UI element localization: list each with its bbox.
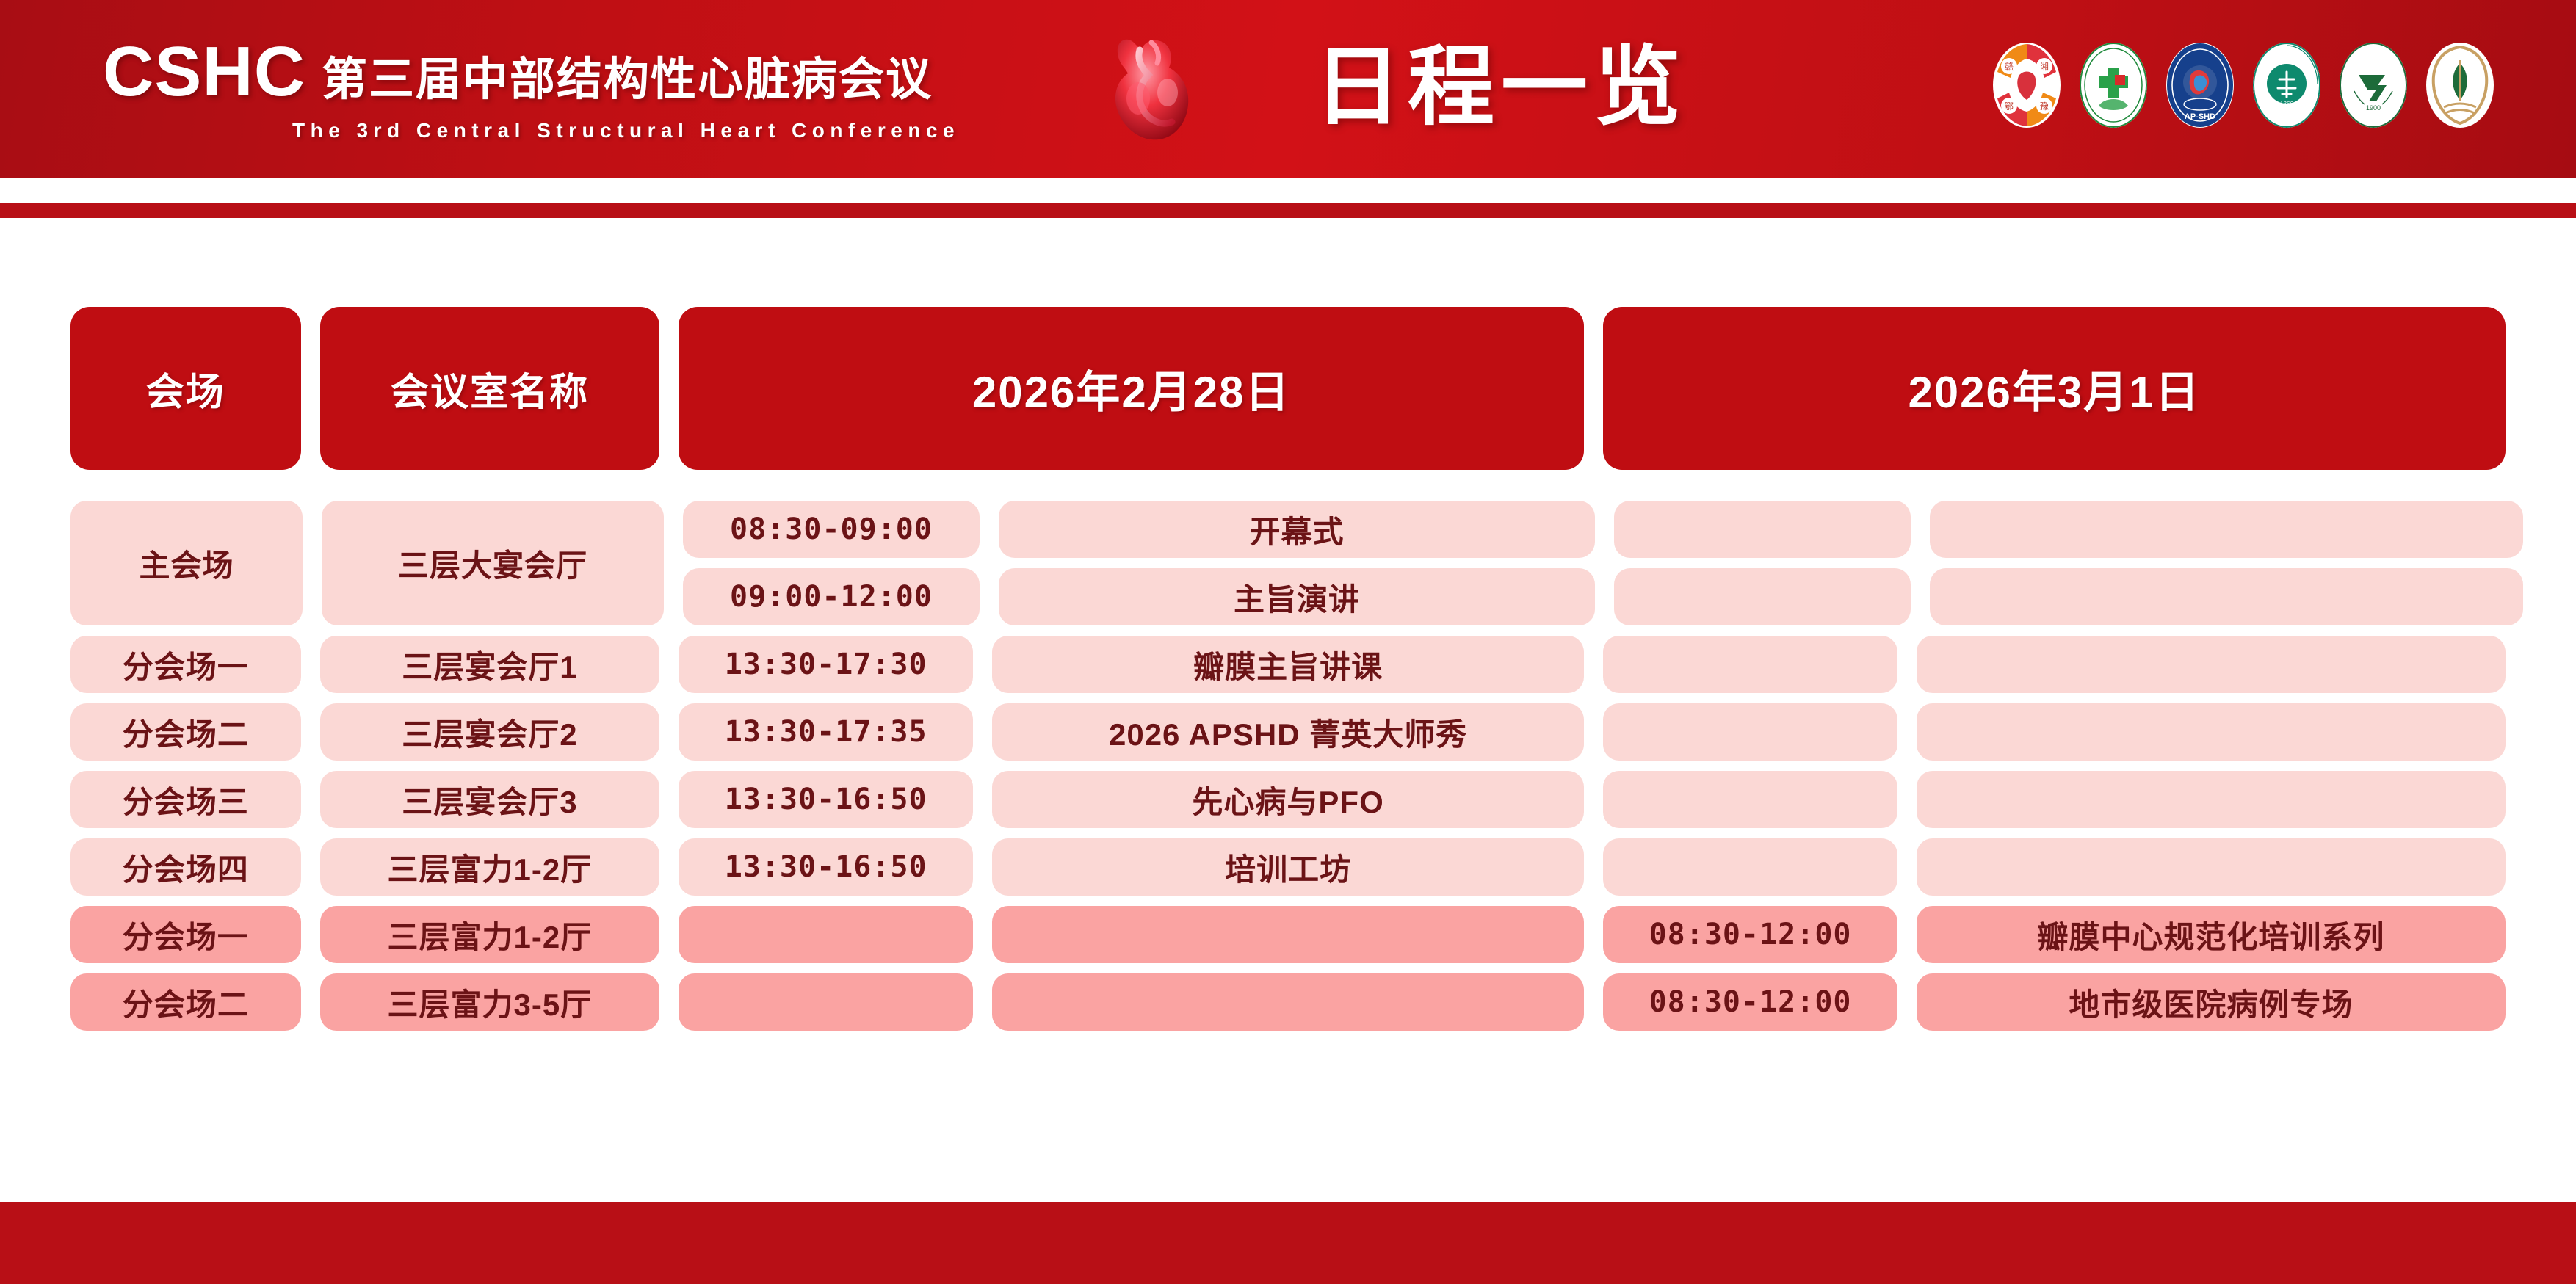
schedule-poster: CSHC 第三届中部结构性心脏病会议 The 3rd Central Struc…	[0, 0, 2576, 1284]
svg-text:赣: 赣	[2005, 62, 2014, 72]
cell-day1-time: 09:00-12:00	[683, 568, 980, 625]
cell-day2-topic: 瓣膜中心规范化培训系列	[1917, 906, 2506, 963]
cell-day2-time: 08:30-12:00	[1603, 906, 1897, 963]
table-row[interactable]: 主会场 三层大宴会厅 08:30-09:00 开幕式 09:00-12:00 主…	[70, 501, 2506, 625]
hospital-emblem-logo	[2426, 43, 2494, 128]
cell-day2-time	[1603, 703, 1897, 761]
table-body: 主会场 三层大宴会厅 08:30-09:00 开幕式 09:00-12:00 主…	[70, 501, 2506, 1031]
table-row[interactable]: 分会场一 三层宴会厅1 13:30-17:30 瓣膜主旨讲课	[70, 636, 2506, 693]
tongji-hospital-logo: 1900	[2340, 43, 2407, 128]
cell-day1-topic: 2026 APSHD 菁英大师秀	[992, 703, 1584, 761]
cell-day1-time: 13:30-16:50	[679, 771, 973, 828]
table-header-row: 会场 会议室名称 2026年2月28日 2026年3月1日	[70, 307, 2506, 470]
svg-text:1866: 1866	[2280, 101, 2293, 107]
cell-day1-time	[679, 973, 973, 1031]
table-row[interactable]: 分会场四 三层富力1-2厅 13:30-16:50 培训工坊	[70, 838, 2506, 896]
cell-venue: 分会场一	[70, 906, 301, 963]
column-header-venue: 会场	[70, 307, 301, 470]
cell-day2-time	[1603, 838, 1897, 896]
cell-day1-topic: 瓣膜主旨讲课	[992, 636, 1584, 693]
cell-day1-time: 13:30-17:30	[679, 636, 973, 693]
cell-room: 三层宴会厅2	[320, 703, 660, 761]
cell-day1-topic	[992, 906, 1584, 963]
page-title: 日程一览	[1314, 28, 1687, 148]
cell-day1-topic: 开幕式	[999, 501, 1595, 558]
anatomical-heart-icon	[1106, 31, 1198, 147]
table-row[interactable]: 分会场三 三层宴会厅3 13:30-16:50 先心病与PFO	[70, 771, 2506, 828]
cell-day2-topic	[1917, 771, 2506, 828]
svg-text:AP-SHD: AP-SHD	[2185, 112, 2215, 121]
logo-chinese-name: 第三届中部结构性心脏病会议	[322, 57, 933, 107]
cell-room: 三层宴会厅3	[320, 771, 660, 828]
gan-xiang-e-yu-alliance-logo: 赣 湘 鄂 豫	[1993, 43, 2061, 128]
wuhan-union-hospital-logo: 1866	[2253, 43, 2320, 128]
organization-logos: 赣 湘 鄂 豫	[1993, 43, 2494, 128]
header-banner: CSHC 第三届中部结构性心脏病会议 The 3rd Central Struc…	[0, 0, 2576, 178]
session-row[interactable]: 09:00-12:00 主旨演讲	[683, 568, 2523, 625]
cell-day1-time: 13:30-16:50	[679, 838, 973, 896]
cell-venue: 分会场二	[70, 973, 301, 1031]
footer-bar	[0, 1202, 2576, 1284]
cell-day2-topic	[1917, 703, 2506, 761]
schedule-table: 会场 会议室名称 2026年2月28日 2026年3月1日 主会场 三层大宴会厅…	[70, 307, 2506, 1031]
svg-text:1900: 1900	[2366, 104, 2381, 112]
session-row[interactable]: 08:30-09:00 开幕式	[683, 501, 2523, 558]
svg-text:湘: 湘	[2040, 61, 2049, 72]
cell-day2-topic: 地市级医院病例专场	[1917, 973, 2506, 1031]
conference-logo: CSHC 第三届中部结构性心脏病会议 The 3rd Central Struc…	[103, 37, 960, 142]
china-medical-sanitation-development-foundation-logo	[2080, 43, 2147, 128]
cell-venue: 分会场四	[70, 838, 301, 896]
column-header-day1: 2026年2月28日	[679, 307, 1584, 470]
cell-venue: 主会场	[70, 501, 303, 625]
cell-day2-topic	[1930, 501, 2523, 558]
cell-day2-time	[1614, 568, 1911, 625]
cell-day2-time: 08:30-12:00	[1603, 973, 1897, 1031]
cell-day1-time: 13:30-17:35	[679, 703, 973, 761]
cell-venue: 分会场三	[70, 771, 301, 828]
ap-shd-logo: AP-SHD	[2166, 43, 2234, 128]
logo-acronym: CSHC	[103, 37, 305, 107]
cell-day2-time	[1603, 636, 1897, 693]
logo-english-name: The 3rd Central Structural Heart Confere…	[292, 119, 960, 142]
cell-day2-time	[1603, 771, 1897, 828]
cell-venue: 分会场一	[70, 636, 301, 693]
banner-accent-stripe	[0, 203, 2576, 218]
column-header-day2: 2026年3月1日	[1603, 307, 2506, 470]
cell-day1-time	[679, 906, 973, 963]
cell-room: 三层富力3-5厅	[320, 973, 660, 1031]
cell-day1-topic	[992, 973, 1584, 1031]
cell-day2-topic	[1930, 568, 2523, 625]
cell-room: 三层大宴会厅	[322, 501, 664, 625]
cell-day1-topic: 先心病与PFO	[992, 771, 1584, 828]
cell-room: 三层富力1-2厅	[320, 906, 660, 963]
cell-day1-topic: 培训工坊	[992, 838, 1584, 896]
cell-day2-topic	[1917, 838, 2506, 896]
cell-day2-topic	[1917, 636, 2506, 693]
cell-day1-topic: 主旨演讲	[999, 568, 1595, 625]
cell-day1-time: 08:30-09:00	[683, 501, 980, 558]
cell-venue: 分会场二	[70, 703, 301, 761]
table-row[interactable]: 分会场一 三层富力1-2厅 08:30-12:00 瓣膜中心规范化培训系列	[70, 906, 2506, 963]
cell-room: 三层富力1-2厅	[320, 838, 660, 896]
cell-day2-time	[1614, 501, 1911, 558]
column-header-room: 会议室名称	[320, 307, 660, 470]
table-row[interactable]: 分会场二 三层宴会厅2 13:30-17:35 2026 APSHD 菁英大师秀	[70, 703, 2506, 761]
table-row[interactable]: 分会场二 三层富力3-5厅 08:30-12:00 地市级医院病例专场	[70, 973, 2506, 1031]
svg-text:鄂: 鄂	[2005, 101, 2014, 112]
cell-room: 三层宴会厅1	[320, 636, 660, 693]
svg-text:豫: 豫	[2040, 101, 2049, 112]
